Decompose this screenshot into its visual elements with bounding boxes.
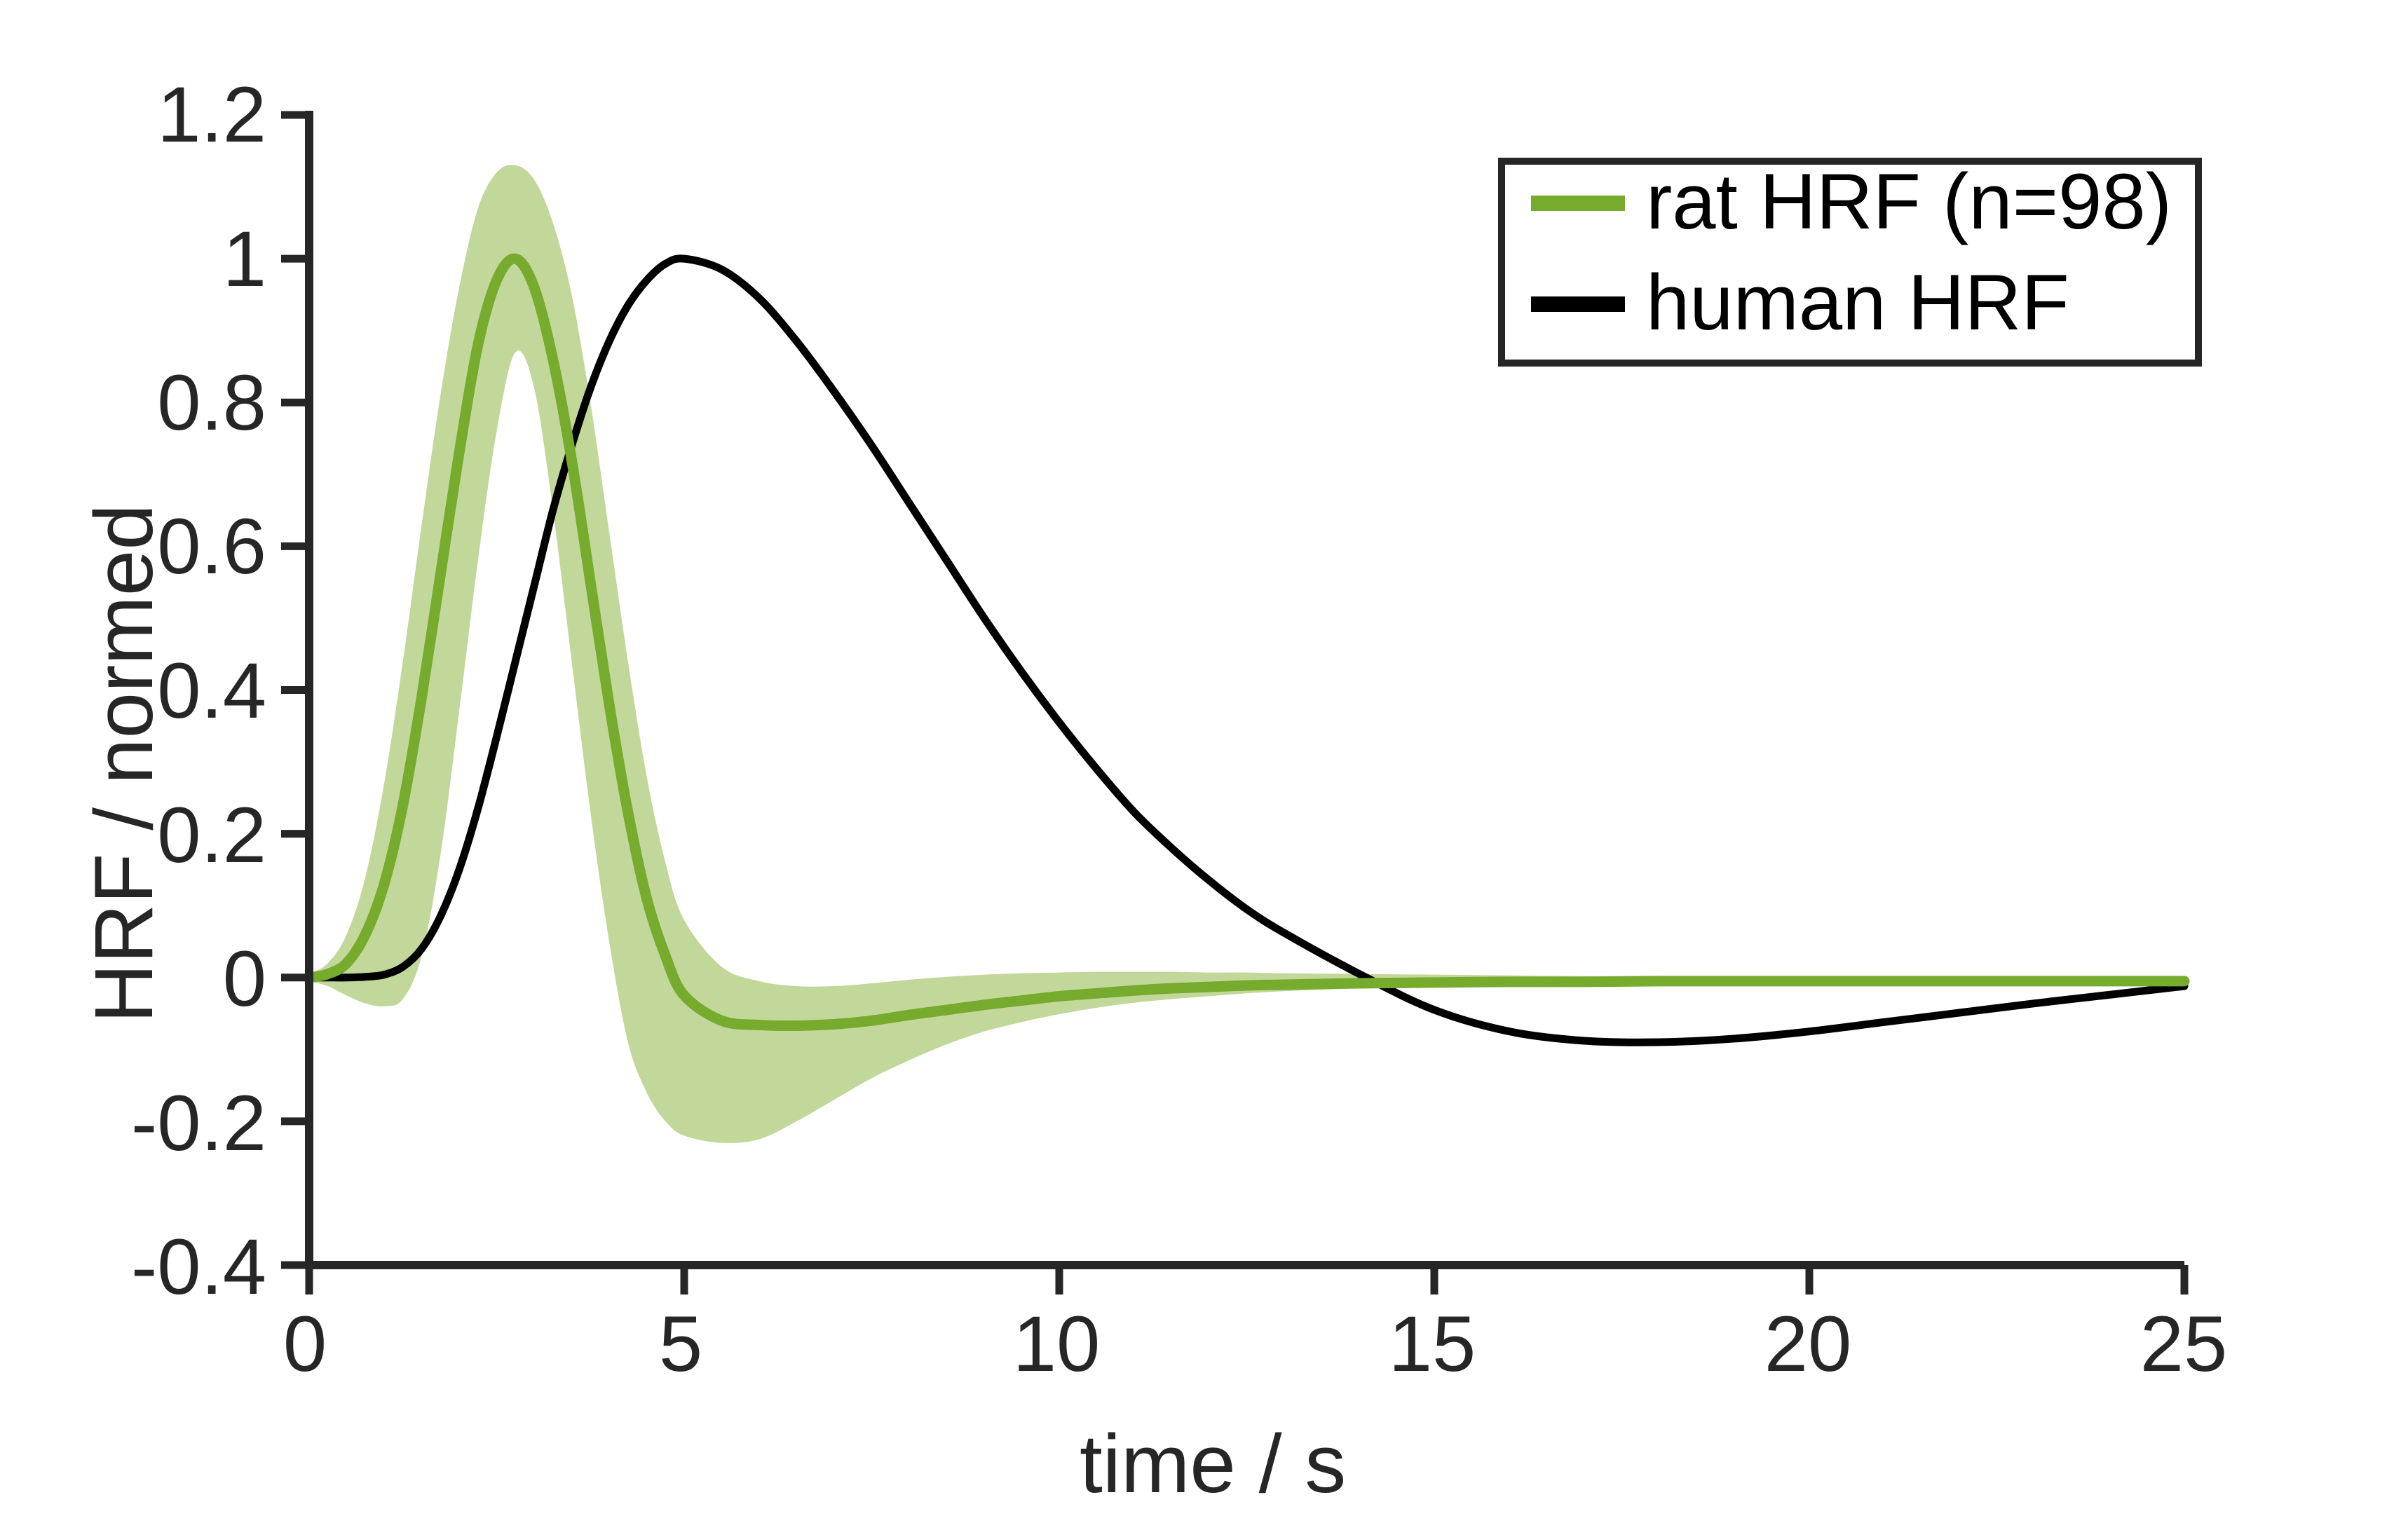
x-tick-label-15: 15	[1348, 1305, 1516, 1384]
x-tick-label-5: 5	[597, 1305, 765, 1384]
hrf-comparison-figure: 1.2 1 0.8 0.6 0.4 0.2 0 -0.2 -0.4 0 5 10…	[0, 0, 2408, 1537]
x-tick-label-10: 10	[972, 1305, 1141, 1384]
y-axis-title: HRF / normed	[83, 504, 165, 1023]
legend-label-human-hrf: human HRF	[1646, 264, 2069, 342]
x-tick-label-20: 20	[1724, 1305, 1892, 1384]
x-tick-label-0: 0	[221, 1305, 389, 1384]
x-tick-label-25: 25	[2100, 1305, 2268, 1384]
legend-label-rat-hrf: rat HRF (n=98)	[1646, 163, 2172, 241]
y-axis-title-wrapper: HRF / normed	[0, 0, 112, 1332]
x-axis-title: time / s	[1080, 1423, 1346, 1505]
x-axis-ticks	[309, 1265, 2184, 1295]
